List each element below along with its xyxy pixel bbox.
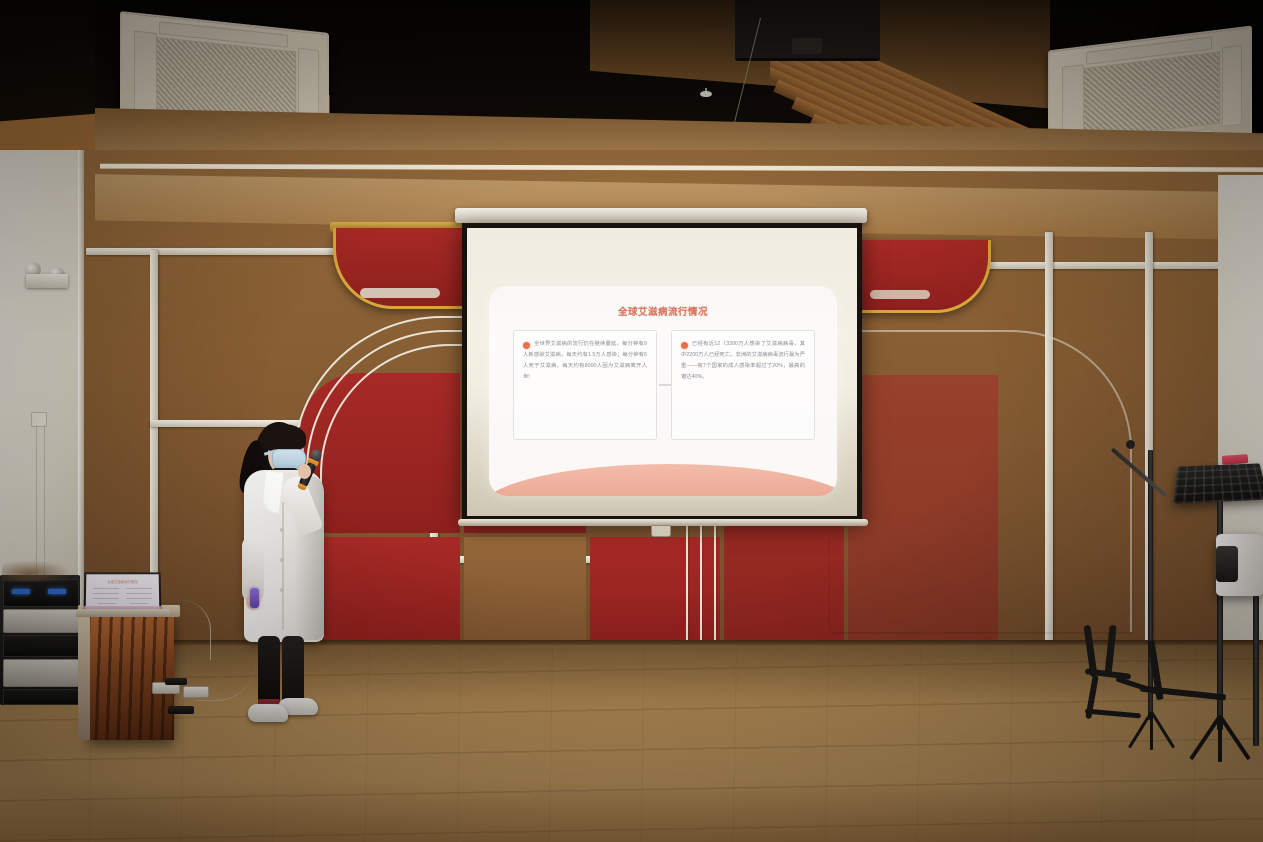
- projector-lens-icon: [792, 38, 822, 54]
- stand-pole-right: [1253, 596, 1259, 746]
- coat-button: [280, 528, 284, 532]
- coat-button: [280, 588, 284, 592]
- podium-side: [78, 616, 90, 740]
- presentation-clicker[interactable]: [250, 588, 259, 608]
- ledge-item: [870, 290, 930, 299]
- projection-screen[interactable]: 全球艾滋病流行情况 全世界艾滋病的流行仍在继续蔓延，每分钟有9人新感染艾滋病，每…: [462, 223, 862, 521]
- music-stand-red-item: [1222, 454, 1249, 465]
- projection-screen-housing: [455, 208, 867, 223]
- slide-title: 全球艾滋病流行情况: [489, 304, 837, 318]
- slide-card-connector: [659, 384, 671, 386]
- slide-left-text: 全世界艾滋病的流行仍在继续蔓延，每分钟有9人新感染艾滋病，每天约有1.5万人感染…: [523, 339, 647, 382]
- decor-rail-right: [830, 330, 1132, 632]
- right-hand: [298, 464, 311, 479]
- left-shoe: [248, 704, 288, 722]
- laptop-slide-title: 全球艾滋病流行情况: [86, 579, 159, 584]
- slide-card-left: 全世界艾滋病的流行仍在继续蔓延，每分钟有9人新感染艾滋病，每天约有1.5万人感染…: [513, 330, 657, 440]
- rack-cable-bundle: [2, 560, 72, 582]
- slide-decorative-wave: [489, 464, 837, 496]
- projection-screen-pull-tab[interactable]: [651, 525, 671, 537]
- slide-right-text: 已经有近12（3300万人感染了艾滋病病毒，其中2200万人已经死亡。非洲的艾滋…: [681, 339, 805, 382]
- plug-adapter: [168, 706, 194, 714]
- presenter: [228, 418, 338, 738]
- plug-adapter: [165, 678, 187, 685]
- slide-card-right: 已经有近12（3300万人感染了艾滋病病毒，其中2200万人已经死亡。非洲的艾滋…: [671, 330, 815, 440]
- lab-coat-placket: [282, 502, 284, 630]
- audio-equipment-rack: [0, 575, 80, 705]
- music-stand-desk: [1173, 463, 1263, 504]
- left-leg: [258, 636, 280, 708]
- stage-scene: 全球艾滋病流行情况 全世界艾滋病的流行仍在继续蔓延，每分钟有9人新感染艾滋病，每…: [0, 0, 1263, 842]
- presentation-slide: 全球艾滋病流行情况 全世界艾滋病的流行仍在继续蔓延，每分钟有9人新感染艾滋病，每…: [489, 286, 837, 496]
- hair-front: [260, 424, 306, 451]
- speaker-grille: [1216, 546, 1238, 582]
- bullet-dot-icon: [681, 342, 688, 349]
- emergency-light-icon: [22, 262, 70, 288]
- coat-button: [280, 558, 284, 562]
- laptop-keyboard-base[interactable]: [75, 609, 170, 617]
- wall-strip-h: [86, 248, 336, 255]
- projection-screen-surface: 全球艾滋病流行情况 全世界艾滋病的流行仍在继续蔓延，每分钟有9人新感染艾滋病，每…: [467, 228, 857, 516]
- fire-sprinkler-icon: [700, 88, 712, 100]
- mic-clip-icon: [1126, 440, 1135, 449]
- music-stand-leg: [1218, 716, 1222, 762]
- podium-box: [88, 612, 174, 740]
- bullet-dot-icon: [523, 342, 530, 349]
- ledge-item: [360, 288, 440, 298]
- laptop-display: 全球艾滋病流行情况: [86, 574, 160, 610]
